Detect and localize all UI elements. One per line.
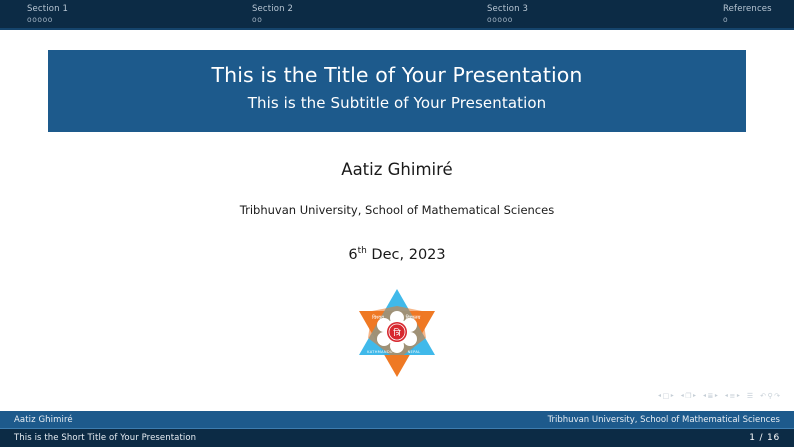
presentation-subtitle: This is the Subtitle of Your Presentatio… bbox=[48, 92, 746, 114]
footer-title-row: This is the Short Title of Your Presenta… bbox=[0, 428, 794, 447]
date-ordinal: th bbox=[358, 246, 367, 256]
search-nav-icon[interactable]: ⚲ bbox=[767, 392, 772, 400]
nav-section-2-label: Section 2 bbox=[252, 4, 293, 14]
nav-section-3[interactable]: Section 3 ooooo bbox=[487, 4, 528, 25]
forward-nav-icon[interactable]: ↷ bbox=[774, 392, 780, 400]
section-nav-icon[interactable]: ≡ bbox=[729, 392, 735, 400]
footer-author: Aatiz Ghimiré bbox=[14, 415, 73, 425]
nav-left-arrow-icon[interactable]: ◂ bbox=[725, 392, 728, 400]
slide-nav-group[interactable]: ◂ □ ▸ bbox=[658, 392, 674, 400]
nav-right-arrow-icon[interactable]: ▸ bbox=[715, 392, 718, 400]
document-nav-group[interactable]: ☰ bbox=[747, 392, 753, 400]
logo-center-glyph: त्रि bbox=[393, 327, 401, 339]
subsection-nav-icon[interactable]: ≣ bbox=[708, 392, 714, 400]
nav-right-arrow-icon[interactable]: ▸ bbox=[737, 392, 740, 400]
presentation-title: This is the Title of Your Presentation bbox=[48, 62, 746, 88]
presentation-date: 6th Dec, 2023 bbox=[0, 247, 794, 263]
nav-left-arrow-icon[interactable]: ◂ bbox=[703, 392, 706, 400]
section-nav-group[interactable]: ◂ ≡ ▸ bbox=[725, 392, 740, 400]
nav-section-references-dots[interactable]: o bbox=[723, 15, 772, 25]
footer-short-title: This is the Short Title of Your Presenta… bbox=[14, 433, 196, 443]
subsection-nav-group[interactable]: ◂ ≣ ▸ bbox=[703, 392, 718, 400]
beamer-navigation-symbols[interactable]: ◂ □ ▸ ◂ ❐ ▸ ◂ ≣ ▸ ◂ ≡ ▸ ☰ ↶ ⚲ ↷ bbox=[658, 392, 780, 400]
nav-left-arrow-icon[interactable]: ◂ bbox=[658, 392, 661, 400]
presentation-slide: Section 1 ooooo Section 2 oo Section 3 o… bbox=[0, 0, 794, 447]
nav-section-1-label: Section 1 bbox=[27, 4, 68, 14]
frame-nav-icon[interactable]: ❐ bbox=[685, 392, 691, 400]
nav-section-references-label: References bbox=[723, 4, 772, 14]
document-nav-icon[interactable]: ☰ bbox=[747, 392, 753, 400]
author-name: Aatiz Ghimiré bbox=[0, 160, 794, 179]
nav-section-2[interactable]: Section 2 oo bbox=[252, 4, 293, 25]
footer-institute: Tribhuvan University, School of Mathemat… bbox=[548, 415, 780, 425]
nav-section-2-dots[interactable]: oo bbox=[252, 15, 293, 25]
back-nav-icon[interactable]: ↶ bbox=[760, 392, 766, 400]
nav-right-arrow-icon[interactable]: ▸ bbox=[693, 392, 696, 400]
frame-nav-group[interactable]: ◂ ❐ ▸ bbox=[681, 392, 696, 400]
footer-page-number: 1 / 16 bbox=[749, 433, 780, 443]
nav-section-1[interactable]: Section 1 ooooo bbox=[27, 4, 68, 25]
tribhuvan-university-logo: विश्वव विद्यालय KATHMANDU NEPAL त्रि bbox=[347, 283, 447, 383]
slide-footer: Aatiz Ghimiré Tribhuvan University, Scho… bbox=[0, 411, 794, 447]
section-navigation-bar: Section 1 ooooo Section 2 oo Section 3 o… bbox=[0, 0, 794, 30]
nav-section-3-dots[interactable]: ooooo bbox=[487, 15, 528, 25]
nav-section-references[interactable]: References o bbox=[723, 4, 772, 25]
logo-svg: विश्वव विद्यालय KATHMANDU NEPAL त्रि bbox=[347, 283, 447, 383]
title-block: This is the Title of Your Presentation T… bbox=[48, 50, 746, 132]
nav-right-arrow-icon[interactable]: ▸ bbox=[671, 392, 674, 400]
logo-bottom-left-text: KATHMANDU bbox=[367, 350, 393, 354]
nav-section-3-label: Section 3 bbox=[487, 4, 528, 14]
institute-name: Tribhuvan University, School of Mathemat… bbox=[0, 203, 794, 217]
history-nav-group[interactable]: ↶ ⚲ ↷ bbox=[760, 392, 780, 400]
date-rest: Dec, 2023 bbox=[367, 247, 446, 263]
logo-bottom-right-text: NEPAL bbox=[408, 350, 421, 354]
slide-nav-icon[interactable]: □ bbox=[663, 392, 670, 400]
nav-section-1-dots[interactable]: ooooo bbox=[27, 15, 68, 25]
nav-left-arrow-icon[interactable]: ◂ bbox=[681, 392, 684, 400]
footer-author-row: Aatiz Ghimiré Tribhuvan University, Scho… bbox=[0, 411, 794, 428]
date-day: 6 bbox=[348, 247, 357, 263]
